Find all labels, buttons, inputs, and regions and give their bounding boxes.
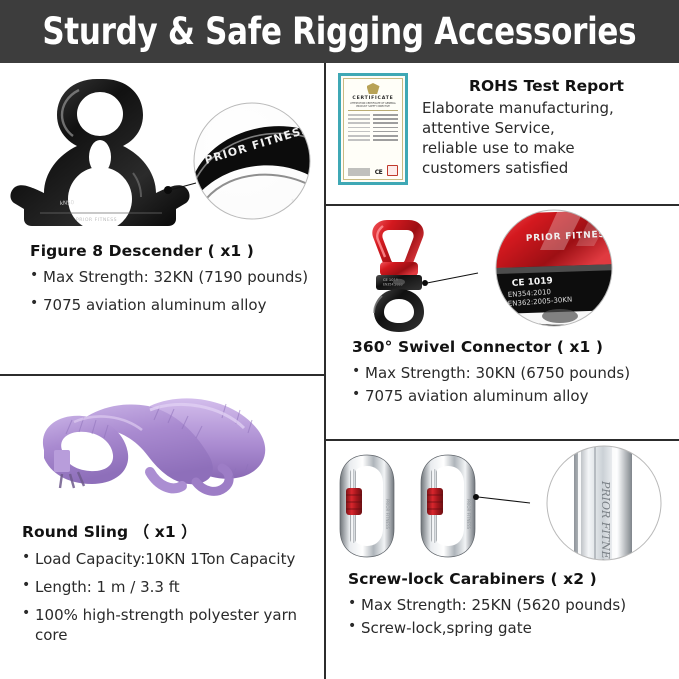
figure8-magnifier: PRIOR FITNESS kN50 <box>194 103 322 219</box>
round-sling-illustration <box>0 376 324 516</box>
rohs-title: ROHS Test Report <box>422 77 671 95</box>
certificate-image: CERTIFICATE ATTESTATION CERTIFICATE OF G… <box>338 73 408 185</box>
list-item: Load Capacity:10KN 1Ton Capacity <box>22 549 318 569</box>
sling-bullets: Load Capacity:10KN 1Ton Capacity Length:… <box>22 549 318 645</box>
swivel-image: CE 1019 EN354:2010 <box>326 206 679 334</box>
figure8-bullets: Max Strength: 32KN (7190 pounds) 7075 av… <box>30 267 310 315</box>
swivel-magnifier: PRIOR FITNESS CE 1019 EN354:2010 EN362:2… <box>496 210 620 332</box>
carabiner-2: PRIOR FITNESS <box>421 455 475 557</box>
list-item: 100% high-strength polyester yarn core <box>22 605 318 645</box>
panel-screw-lock-carabiners: PRIOR FITNESS PRIOR FITNESS <box>326 441 679 679</box>
figure8-mark-brand: PRIOR FITNESS <box>76 217 117 223</box>
certificate-heading: CERTIFICATE <box>348 96 398 101</box>
panel-figure8-descender: kN50 PRIOR FITNESS PRIOR FITNESS kN50 <box>0 63 324 374</box>
carabiner-magnifier: PRIOR FITNESS <box>547 441 661 566</box>
certificate-crest-icon <box>367 83 380 94</box>
figure8-mark-kn50: kN50 <box>60 200 75 207</box>
list-item: Screw-lock,spring gate <box>348 618 671 638</box>
rohs-line-4: customers satisfied <box>422 159 671 179</box>
swivel-callout-leader <box>427 273 478 283</box>
certificate-subheading: ATTESTATION CERTIFICATE OF GENERAL PRODU… <box>348 102 398 108</box>
product-infographic: Sturdy & Safe Rigging Accessories <box>0 0 679 679</box>
panel-swivel-connector: CE 1019 EN354:2010 <box>326 206 679 439</box>
carabiner-callout-leader <box>478 497 530 503</box>
swivel-title: 360° Swivel Connector ( x1 ) <box>352 338 669 356</box>
list-item: Max Strength: 30KN (6750 pounds) <box>352 363 669 383</box>
carabiners-bullets: Max Strength: 25KN (5620 pounds) Screw-l… <box>348 595 671 638</box>
panel-rohs-test-report: CERTIFICATE ATTESTATION CERTIFICATE OF G… <box>326 63 679 204</box>
sling-title: Round Sling （ x1 ） <box>22 520 318 542</box>
panel-round-sling: Round Sling （ x1 ） Load Capacity:10KN 1T… <box>0 376 324 679</box>
carabiner-1-engraving: PRIOR FITNESS <box>385 499 390 530</box>
screw-lock-sleeve <box>427 488 443 515</box>
list-item: 7075 aviation aluminum alloy <box>352 386 669 406</box>
rohs-line-2: attentive Service, <box>422 119 671 139</box>
page-title: Sturdy & Safe Rigging Accessories <box>43 10 637 53</box>
header-banner: Sturdy & Safe Rigging Accessories <box>0 0 679 63</box>
sling-body <box>43 398 265 491</box>
list-item: Max Strength: 25KN (5620 pounds) <box>348 595 671 615</box>
swivel-bullets: Max Strength: 30KN (6750 pounds) 7075 av… <box>352 363 669 406</box>
figure8-image: kN50 PRIOR FITNESS PRIOR FITNESS kN50 <box>0 63 324 238</box>
certificate-signature <box>348 168 370 176</box>
certificate-stamp-icon <box>387 165 398 176</box>
figure8-descender-illustration: kN50 PRIOR FITNESS PRIOR FITNESS kN50 <box>0 63 324 238</box>
sling-image <box>0 376 324 516</box>
list-item: 7075 aviation aluminum alloy <box>30 295 310 315</box>
rohs-line-3: reliable use to make <box>422 139 671 159</box>
carabiner-1: PRIOR FITNESS <box>340 455 394 557</box>
carabiners-illustration: PRIOR FITNESS PRIOR FITNESS <box>326 441 679 566</box>
carabiner-magnifier-brand: PRIOR FITNESS <box>599 480 612 566</box>
figure8-title: Figure 8 Descender ( x1 ) <box>30 242 310 260</box>
screw-lock-sleeve <box>346 488 362 515</box>
swivel-body: CE 1019 EN354:2010 <box>372 220 424 332</box>
list-item: Length: 1 m / 3.3 ft <box>22 577 318 597</box>
figure8-body <box>10 79 189 231</box>
certificate-detail-rows <box>348 114 398 141</box>
carabiners-title: Screw-lock Carabiners ( x2 ) <box>348 570 671 588</box>
carabiner-2-engraving: PRIOR FITNESS <box>466 499 471 530</box>
list-item: Max Strength: 32KN (7190 pounds) <box>30 267 310 287</box>
ce-mark-icon: CE <box>375 169 383 176</box>
swivel-connector-illustration: CE 1019 EN354:2010 <box>326 206 679 334</box>
rohs-line-1: Elaborate manufacturing, <box>422 99 671 119</box>
carabiners-image: PRIOR FITNESS PRIOR FITNESS <box>326 441 679 566</box>
